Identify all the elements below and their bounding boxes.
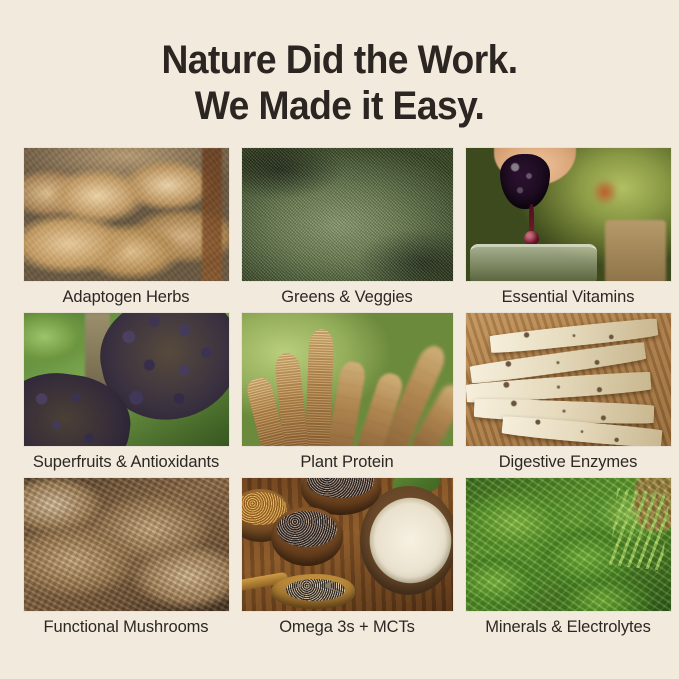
- essential-vitamins-photo: [466, 148, 671, 281]
- adaptogen-herbs-label: Adaptogen Herbs: [24, 281, 229, 313]
- omega-3s-mcts-image: [242, 478, 453, 611]
- grid-item-digestive-enzymes: Digestive Enzymes: [466, 313, 671, 478]
- background-jar: [605, 220, 667, 281]
- essential-vitamins-image: [466, 148, 671, 281]
- grid-item-superfruits-antioxidants: Superfruits & Antioxidants: [24, 313, 229, 478]
- digestive-enzymes-image: [466, 313, 671, 446]
- grid-item-plant-protein: Plant Protein: [242, 313, 453, 478]
- greens-veggies-image: [242, 148, 453, 281]
- bokeh-highlight: [593, 177, 618, 206]
- minerals-electrolytes-label: Minerals & Electrolytes: [466, 611, 671, 643]
- grid-item-adaptogen-herbs: Adaptogen Herbs: [24, 148, 229, 313]
- digestive-enzymes-label: Digestive Enzymes: [466, 446, 671, 478]
- functional-mushrooms-photo: [24, 478, 229, 611]
- omega-3s-mcts-photo: [242, 478, 453, 611]
- essential-vitamins-label: Essential Vitamins: [466, 281, 671, 313]
- functional-mushrooms-label: Functional Mushrooms: [24, 611, 229, 643]
- plant-protein-photo: [242, 313, 453, 446]
- ingredient-benefits-poster: Nature Did the Work. We Made it Easy. Ad…: [0, 0, 679, 679]
- adaptogen-herbs-image: [24, 148, 229, 281]
- spinach-stems: [609, 489, 670, 571]
- superfruits-antioxidants-photo: [24, 313, 229, 446]
- minerals-electrolytes-photo: [466, 478, 671, 611]
- grid-item-essential-vitamins: Essential Vitamins: [466, 148, 671, 313]
- ingredient-grid: Adaptogen Herbs Greens & Veggies E: [24, 129, 656, 643]
- seed-head-3: [305, 329, 335, 446]
- chia-bowl-front: [271, 507, 343, 566]
- grid-item-greens-veggies: Greens & Veggies: [242, 148, 453, 313]
- blackberry-shape: [500, 154, 549, 210]
- omega-3s-mcts-label: Omega 3s + MCTs: [242, 611, 453, 643]
- functional-mushrooms-image: [24, 478, 229, 611]
- adaptogen-herbs-photo: [24, 148, 229, 281]
- grid-item-omega-3s-mcts: Omega 3s + MCTs: [242, 478, 453, 643]
- digestive-enzymes-photo: [466, 313, 671, 446]
- drinking-glass: [470, 244, 597, 282]
- minerals-electrolytes-image: [466, 478, 671, 611]
- headline-line-1: Nature Did the Work.: [24, 38, 655, 84]
- headline-line-2: We Made it Easy.: [24, 84, 655, 130]
- grid-item-minerals-electrolytes: Minerals & Electrolytes: [466, 478, 671, 643]
- chia-spoon: [271, 574, 355, 609]
- greens-veggies-photo: [242, 148, 453, 281]
- plant-protein-image: [242, 313, 453, 446]
- greens-veggies-label: Greens & Veggies: [242, 281, 453, 313]
- grid-item-functional-mushrooms: Functional Mushrooms: [24, 478, 229, 643]
- page-title: Nature Did the Work. We Made it Easy.: [24, 0, 655, 129]
- plant-protein-label: Plant Protein: [242, 446, 453, 478]
- superfruits-antioxidants-label: Superfruits & Antioxidants: [24, 446, 229, 478]
- superfruits-antioxidants-image: [24, 313, 229, 446]
- woven-basket: [634, 478, 671, 531]
